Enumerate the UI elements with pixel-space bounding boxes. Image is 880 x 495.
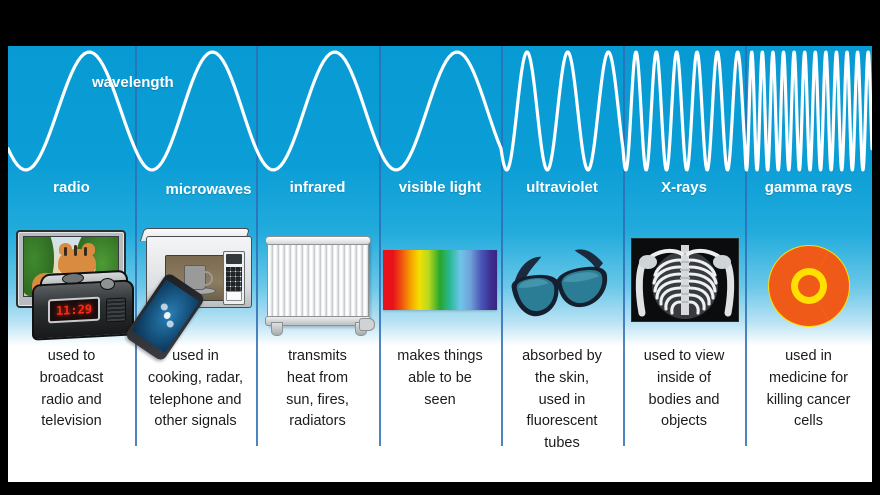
band-art-x-rays [623,218,745,340]
wavelength-caption: wavelength [92,74,174,91]
band-art-microwaves [135,218,256,340]
band-art-gamma-rays [745,218,872,340]
sunglasses-illustration [503,234,621,340]
mobile-phone-screen [131,279,199,353]
diagram-panel: wavelength radio [8,46,872,482]
clock-radio-speaker-grill [106,297,126,322]
microwave-control-panel[interactable] [223,251,245,305]
band-description-infrared: transmitsheat fromsun, fires,radiators [256,346,379,433]
electromagnetic-spectrum-diagram: wavelength radio [0,0,880,495]
wavelength-wave-trace [8,46,872,182]
clock-time-value: 11:29 [55,302,91,318]
radiator-fins [267,238,369,326]
visible-spectrum-illustration [381,234,499,340]
microwave-start-button[interactable] [226,291,242,301]
sunglasses-svg [503,234,621,340]
radiator-illustration [259,234,377,340]
microwave-oven-and-mobile-phone-illustration [136,228,256,340]
band-description-visible-light: makes thingsable to beseen [379,346,501,411]
television-and-clock-radio-illustration: 11:29 [10,228,134,340]
radiator-foot-left [271,322,283,336]
visible-spectrum-bar [383,250,497,310]
band-description-ultraviolet: absorbed bythe skin,used influorescenttu… [501,346,623,455]
microwave-keypad[interactable] [226,267,242,291]
band-description-radio: used tobroadcastradio andtelevision [8,346,135,433]
microwave-display [226,254,242,264]
band-label-microwaves: microwaves [161,180,256,200]
x-ray-film [631,238,739,322]
phone-wallpaper-splash [149,298,184,334]
band-description-gamma-rays: used inmedicine forkilling cancercells [745,346,872,433]
radiation-hazard-symbol-illustration [750,234,868,340]
radiator-valve [359,318,375,331]
tiger-stripe [74,245,77,256]
band-art-visible-light [379,218,501,340]
band-description-x-rays: used to viewinside ofbodies andobjects [623,346,745,433]
band-art-ultraviolet [501,218,623,340]
tiger-stripe [64,247,67,256]
x-ray-skeleton-svg [632,239,738,321]
radiation-trefoil-svg [750,234,868,340]
clock-radio-dial[interactable] [100,278,115,290]
clock-radio-display: 11:29 [48,297,100,324]
chest-x-ray-illustration [625,234,743,340]
band-art-radio: 11:29 [8,218,135,340]
tiger-stripe [84,247,87,256]
band-art-infrared [256,218,379,340]
radiator-top-rail [265,236,371,245]
band-description-microwaves: used incooking, radar,telephone andother… [135,346,256,433]
